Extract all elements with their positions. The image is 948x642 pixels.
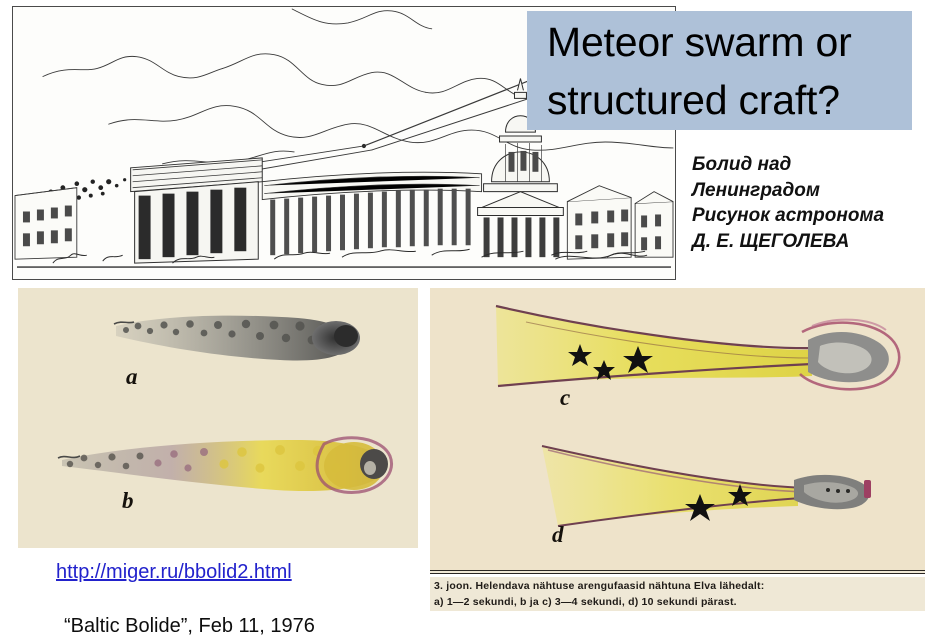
russian-caption-line-2: Ленинградом <box>692 178 944 204</box>
russian-caption-line-4: Д. Е. ЩЕГОЛЕВА <box>692 229 944 255</box>
bolide-trail-sketch-panel: a b <box>18 288 418 548</box>
figure-label-c: c <box>560 385 570 411</box>
caption-divider-rule <box>430 570 925 574</box>
figure-label-b: b <box>122 488 134 514</box>
estonian-caption-line-2: a) 1—2 sekundi, b ja c) 3—4 sekundi, d) … <box>434 594 925 610</box>
estonian-figure-caption: 3. joon. Helendava nähtuse arengufaasid … <box>430 577 925 611</box>
russian-caption-line-1: Болид над <box>692 152 944 178</box>
slide-canvas: Meteor swarm or structured craft? Болид … <box>0 0 948 642</box>
russian-caption-line-3: Рисунок астронома <box>692 203 944 229</box>
figure-label-a: a <box>126 364 138 390</box>
title-line-2: structured craft? <box>547 71 912 129</box>
source-link[interactable]: http://miger.ru/bbolid2.html <box>56 561 292 584</box>
estonian-caption-line-1: 3. joon. Helendava nähtuse arengufaasid … <box>434 578 925 594</box>
elva-phenomenon-sketch-panel: c d <box>430 288 925 570</box>
slide-title: Meteor swarm or structured craft? <box>527 11 912 130</box>
title-line-1: Meteor swarm or <box>547 13 912 71</box>
bolide-caption: “Baltic Bolide”, Feb 11, 1976 <box>64 615 315 638</box>
russian-caption: Болид над Ленинградом Рисунок астронома … <box>692 152 944 254</box>
figure-label-d: d <box>552 522 564 548</box>
